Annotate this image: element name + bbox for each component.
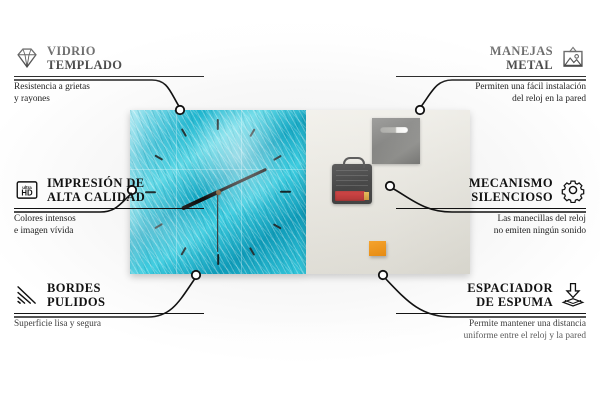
callout-description: Las manecillas del relojno emiten ningún…: [396, 213, 586, 237]
ultra-hd-icon: ultra HD: [14, 177, 40, 203]
callout-title: VIDRIOTEMPLADO: [47, 44, 122, 72]
callout-vidrio-templado: VIDRIOTEMPLADO Resistencia a grietasy ra…: [14, 44, 204, 105]
callout-rule: [396, 208, 586, 209]
callout-rule: [396, 76, 586, 77]
callout-manejas-metal: MANEJASMETAL Permiten una fácil instalac…: [396, 44, 586, 105]
callout-description: Resistencia a grietasy rayones: [14, 81, 204, 105]
clock-mechanism: [332, 164, 372, 204]
polished-edges-icon: [14, 282, 40, 308]
callout-impresion-alta-calidad: ultra HD IMPRESIÓN DEALTA CALIDAD Colore…: [14, 176, 204, 237]
callout-espaciador-espuma: ESPACIADORDE ESPUMA Permite mantener una…: [396, 281, 586, 342]
foam-spacer-icon: [560, 282, 586, 308]
callout-rule: [14, 313, 204, 314]
picture-hanger-icon: [560, 45, 586, 71]
clock-minute-hand: [217, 168, 267, 194]
callout-description: Permite mantener una distanciauniforme e…: [396, 318, 586, 342]
callout-rule: [396, 313, 586, 314]
svg-text:HD: HD: [21, 189, 33, 198]
callout-title: ESPACIADORDE ESPUMA: [467, 281, 553, 309]
diamond-icon: [14, 45, 40, 71]
callout-description: Permiten una fácil instalacióndel reloj …: [396, 81, 586, 105]
callout-rule: [14, 208, 204, 209]
callout-rule: [14, 76, 204, 77]
hanger-slot: [380, 127, 408, 133]
mechanism-hook: [343, 157, 365, 168]
infographic-canvas: VIDRIOTEMPLADO Resistencia a grietasy ra…: [0, 0, 600, 400]
foam-spacer-pad: [369, 241, 386, 256]
callout-title: MANEJASMETAL: [490, 44, 553, 72]
metal-hanger-plate: [372, 118, 420, 164]
battery: [335, 191, 365, 201]
callout-description: Colores intensose imagen vívida: [14, 213, 204, 237]
clock-center-cap: [216, 190, 221, 195]
mechanism-detail: [336, 170, 368, 188]
callout-mecanismo-silencioso: MECANISMOSILENCIOSO Las manecillas del r…: [396, 176, 586, 237]
callout-bordes-pulidos: BORDESPULIDOS Superficie lisa y segura: [14, 281, 204, 330]
clock-second-hand: [217, 192, 218, 252]
callout-title: IMPRESIÓN DEALTA CALIDAD: [47, 176, 145, 204]
callout-description: Superficie lisa y segura: [14, 318, 204, 330]
callout-title: MECANISMOSILENCIOSO: [469, 176, 553, 204]
callout-title: BORDESPULIDOS: [47, 281, 105, 309]
gear-icon: [560, 177, 586, 203]
